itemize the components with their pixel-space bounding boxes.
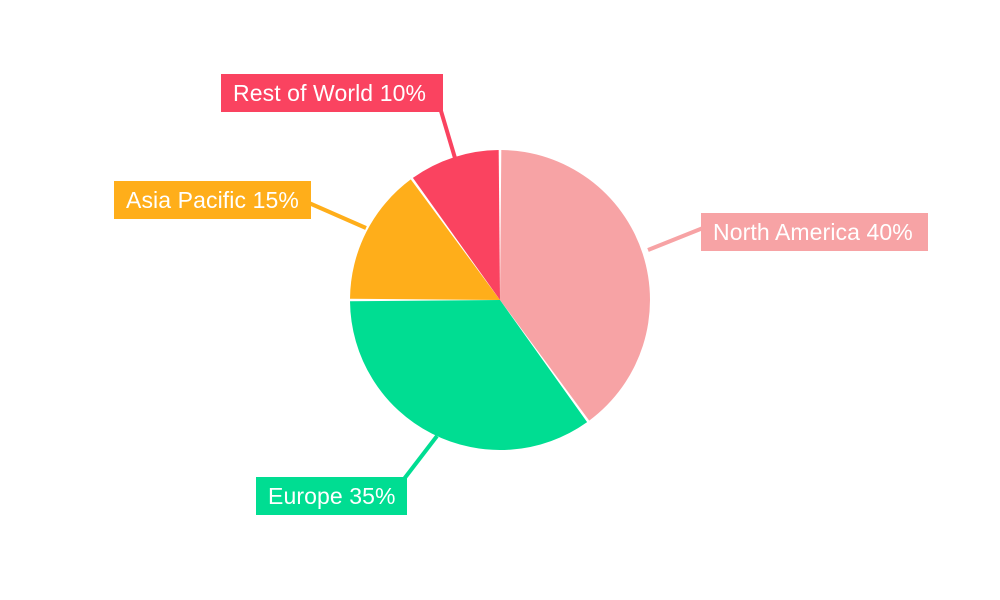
slice-label-rest-of-world[interactable]: Rest of World 10%: [221, 74, 443, 112]
leader-line-europe: [404, 436, 437, 479]
pie-chart: North America 40% Europe 35% Asia Pacifi…: [0, 0, 1000, 600]
slice-label-europe[interactable]: Europe 35%: [256, 477, 407, 515]
leader-line-north-america: [648, 228, 703, 250]
slice-label-asia-pacific[interactable]: Asia Pacific 15%: [114, 181, 311, 219]
pie-slices: [350, 150, 650, 450]
slice-label-text: North America 40%: [713, 221, 913, 244]
slice-label-text: Rest of World 10%: [233, 82, 426, 105]
pie-chart-svg: [0, 0, 1000, 600]
slice-label-text: Asia Pacific 15%: [126, 189, 299, 212]
leader-line-asia-pacific: [309, 203, 366, 228]
leader-line-rest-of-world: [441, 111, 455, 158]
slice-label-north-america[interactable]: North America 40%: [701, 213, 928, 251]
slice-label-text: Europe 35%: [268, 485, 396, 508]
